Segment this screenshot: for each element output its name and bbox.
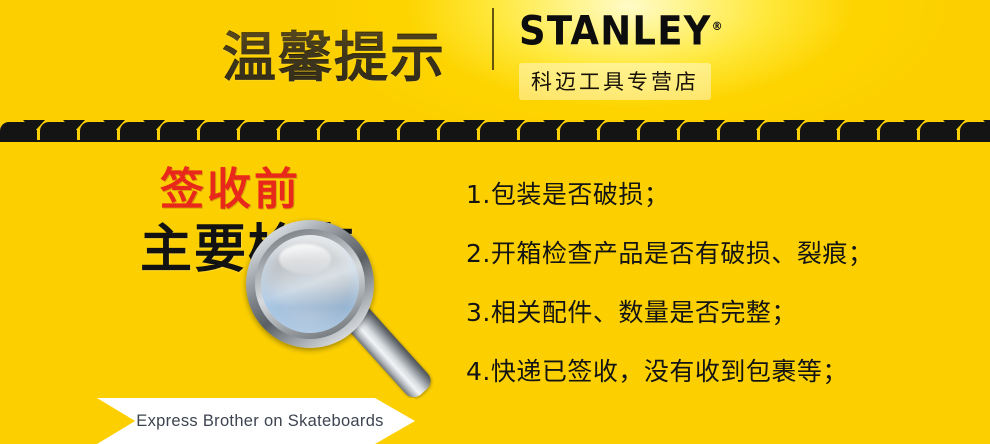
stamp-unit <box>120 112 160 142</box>
list-item: 1.包装是否破损； <box>466 180 966 210</box>
stamp-unit <box>160 112 200 142</box>
stamp-unit <box>720 112 760 142</box>
brand-lockup: STANLEY® 科迈工具专营店 <box>519 3 734 100</box>
stamp-unit <box>240 112 280 142</box>
stamp-unit <box>200 112 240 142</box>
stamp-unit <box>800 112 840 142</box>
stamp-unit <box>880 112 920 142</box>
headline-block: 签收前 主要检查 <box>140 164 440 334</box>
stamp-unit <box>760 112 800 142</box>
stamp-unit <box>0 112 40 142</box>
header-content: 温馨提示 STANLEY® 科迈工具专营店 <box>222 0 782 120</box>
stamp-unit <box>80 112 120 142</box>
stamp-border-icon <box>0 112 990 142</box>
list-item: 3.相关配件、数量是否完整； <box>466 298 966 328</box>
stamp-unit <box>560 112 600 142</box>
page-title: 温馨提示 <box>222 26 446 90</box>
list-item: 2.开箱检查产品是否有破损、裂痕； <box>466 239 966 269</box>
stamp-unit <box>520 112 560 142</box>
brand-subtitle: 科迈工具专营店 <box>519 63 711 100</box>
stamp-unit <box>40 112 80 142</box>
headline-line-1: 签收前 <box>160 164 301 216</box>
stamp-unit <box>360 112 400 142</box>
brand-name-text: STANLEY <box>519 8 712 54</box>
stamp-unit <box>440 112 480 142</box>
ribbon-banner: Express Brother on Skateboards <box>97 398 415 444</box>
headline-line-2: 主要检查 <box>140 220 356 280</box>
stamp-funnel <box>983 120 990 132</box>
stamp-unit <box>480 112 520 142</box>
list-item: 4.快递已签收，没有收到包裹等； <box>466 357 966 387</box>
stamp-unit <box>280 112 320 142</box>
stamp-unit <box>960 112 990 142</box>
stamp-unit <box>920 112 960 142</box>
stamp-unit <box>320 112 360 142</box>
banner-header: 温馨提示 STANLEY® 科迈工具专营店 <box>0 0 990 120</box>
promo-banner: 温馨提示 STANLEY® 科迈工具专营店 签收前 主要检查 <box>0 0 990 444</box>
stamp-unit <box>840 112 880 142</box>
stamp-unit <box>600 112 640 142</box>
header-divider-icon <box>492 8 494 70</box>
ribbon-label: Express Brother on Skateboards <box>128 412 383 431</box>
stamp-unit <box>640 112 680 142</box>
registered-mark-icon: ® <box>712 19 723 33</box>
stamp-unit <box>400 112 440 142</box>
stamp-unit <box>680 112 720 142</box>
brand-name: STANLEY® <box>519 3 734 55</box>
checklist: 1.包装是否破损； 2.开箱检查产品是否有破损、裂痕； 3.相关配件、数量是否完… <box>466 180 966 387</box>
